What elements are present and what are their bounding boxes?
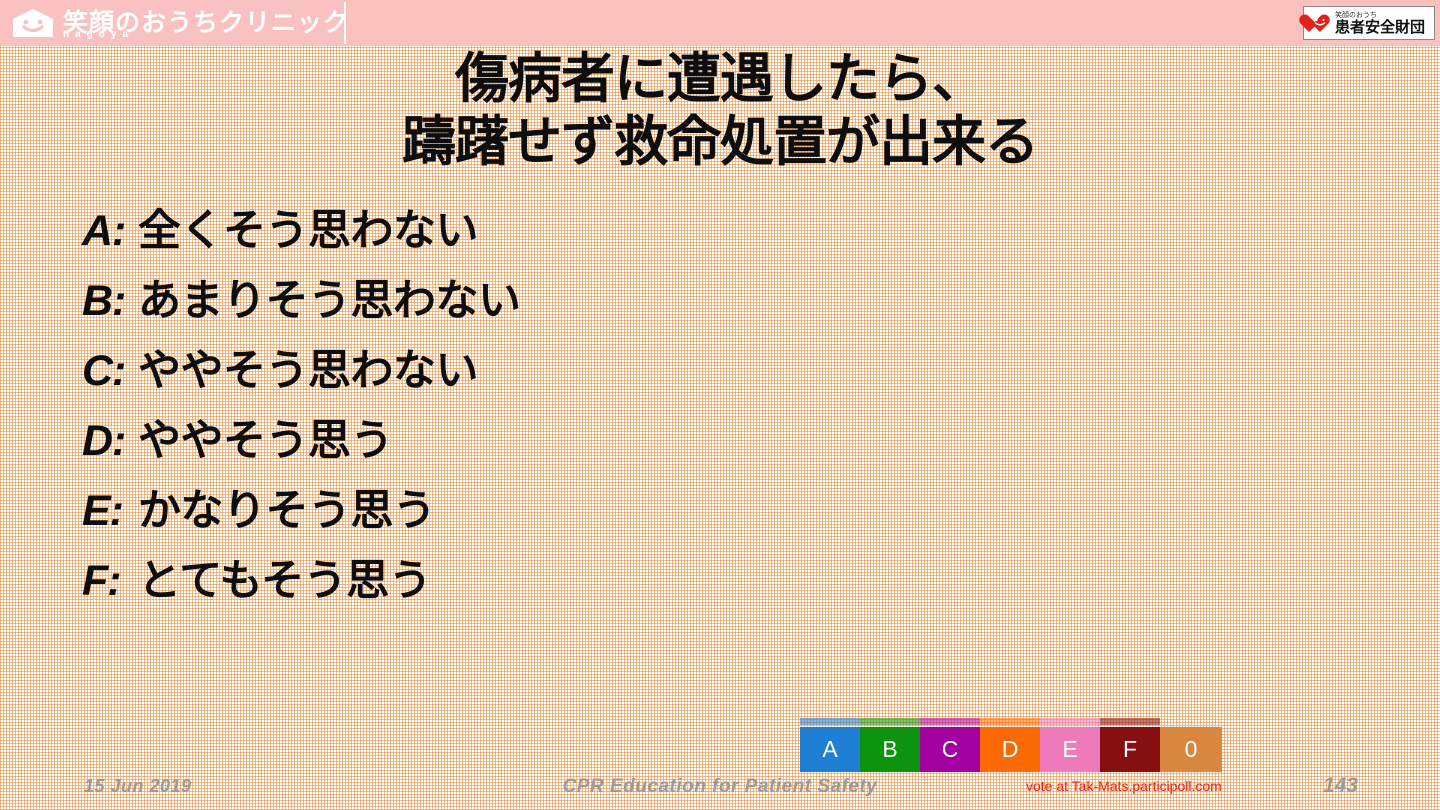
vote-url-text: vote at Tak-Mats.participoll.com xyxy=(1026,778,1222,794)
option-row-d: D: ややそう思う xyxy=(82,406,521,476)
slide-title: 傷病者に遭遇したら、 躊躇せず救命処置が出来る xyxy=(0,48,1440,173)
option-text-f: とてもそう思う xyxy=(138,546,431,608)
option-letter-a: A: xyxy=(82,207,138,256)
option-text-b: あまりそう思わない xyxy=(138,266,521,328)
poll-button-f[interactable]: F xyxy=(1100,727,1160,772)
poll-bar-b xyxy=(860,718,920,725)
poll-bar-f xyxy=(1100,718,1160,725)
poll-button-e[interactable]: E xyxy=(1040,727,1100,772)
poll-column-b[interactable]: B xyxy=(860,718,920,772)
poll-column-e[interactable]: E xyxy=(1040,718,1100,772)
option-text-a: 全くそう思わない xyxy=(138,196,478,258)
poll-vote-count: 0 xyxy=(1160,727,1222,772)
title-line-2: 躊躇せず救命処置が出来る xyxy=(0,111,1440,174)
foundation-text: 笑顔のおうち 患者安全財団 xyxy=(1335,12,1425,35)
option-row-a: A: 全くそう思わない xyxy=(82,196,521,266)
option-letter-b: B: xyxy=(82,277,138,326)
option-text-d: ややそう思う xyxy=(138,406,393,468)
poll-column-d[interactable]: D xyxy=(980,718,1040,772)
poll-count-column: 0 xyxy=(1160,718,1222,772)
footer-title: CPR Education for Patient Safety xyxy=(0,776,1440,798)
poll-bar-c xyxy=(920,718,980,725)
option-row-b: B: あまりそう思わない xyxy=(82,266,521,336)
poll-column-a[interactable]: A xyxy=(800,718,860,772)
foundation-small-text: 笑顔のおうち xyxy=(1335,12,1425,19)
option-letter-d: D: xyxy=(82,417,138,466)
poll-column-f[interactable]: F xyxy=(1100,718,1160,772)
option-text-c: ややそう思わない xyxy=(138,336,478,398)
option-row-f: F: とてもそう思う xyxy=(82,546,521,616)
participoll-widget[interactable]: A B C D E F 0 xyxy=(800,718,1222,772)
option-row-e: E: かなりそう思う xyxy=(82,476,521,546)
smiling-heart-icon xyxy=(1309,13,1331,33)
title-line-1: 傷病者に遭遇したら、 xyxy=(0,48,1440,111)
foundation-logo: 笑顔のおうち 患者安全財団 xyxy=(1303,6,1435,40)
poll-button-c[interactable]: C xyxy=(920,727,980,772)
smiling-house-icon xyxy=(12,8,54,38)
poll-column-c[interactable]: C xyxy=(920,718,980,772)
footer-page-number: 143 xyxy=(1323,774,1358,798)
slide-header-bar: 笑顔のおうちクリニック nagoya 笑顔のおうち 患者安全財団 xyxy=(0,0,1440,46)
poll-bar-a xyxy=(800,718,860,725)
option-letter-c: C: xyxy=(82,347,138,396)
option-letter-f: F: xyxy=(82,557,138,606)
option-text-e: かなりそう思う xyxy=(138,476,436,538)
option-row-c: C: ややそう思わない xyxy=(82,336,521,406)
poll-bar-d xyxy=(980,718,1040,725)
option-letter-e: E: xyxy=(82,487,138,536)
poll-bar-e xyxy=(1040,718,1100,725)
poll-button-b[interactable]: B xyxy=(860,727,920,772)
slide-canvas: 笑顔のおうちクリニック nagoya 笑顔のおうち 患者安全財団 傷病者に遭遇し… xyxy=(0,0,1440,810)
clinic-subtitle: nagoya xyxy=(63,29,134,40)
answer-options-list: A: 全くそう思わない B: あまりそう思わない C: ややそう思わない D: … xyxy=(82,196,521,616)
foundation-main-text: 患者安全財団 xyxy=(1335,20,1425,35)
poll-button-d[interactable]: D xyxy=(980,727,1040,772)
poll-button-a[interactable]: A xyxy=(800,727,860,772)
